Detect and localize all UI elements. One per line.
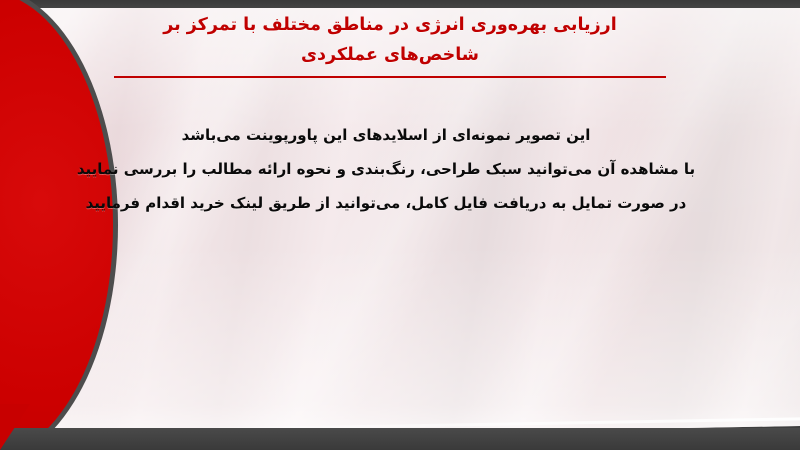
title-underline-rule xyxy=(114,76,666,78)
slide-frame-bottom-edge xyxy=(0,428,800,450)
presentation-slide: ارزیابی بهره‌وری انرژی در مناطق مختلف با… xyxy=(0,0,800,450)
slide-title-line-1: ارزیابی بهره‌وری انرژی در مناطق مختلف با… xyxy=(80,10,700,40)
body-line-2: با مشاهده آن می‌توانید سبک طراحی، رنگ‌بن… xyxy=(76,152,696,186)
slide-body-text: این تصویر نمونه‌ای از اسلایدهای این پاور… xyxy=(76,118,696,220)
slide-title: ارزیابی بهره‌وری انرژی در مناطق مختلف با… xyxy=(80,10,700,78)
body-line-3: در صورت تمایل به دریافت فایل کامل، می‌تو… xyxy=(76,186,696,220)
body-line-1: این تصویر نمونه‌ای از اسلایدهای این پاور… xyxy=(76,118,696,152)
slide-title-line-2: شاخص‌های عملکردی xyxy=(80,40,700,70)
